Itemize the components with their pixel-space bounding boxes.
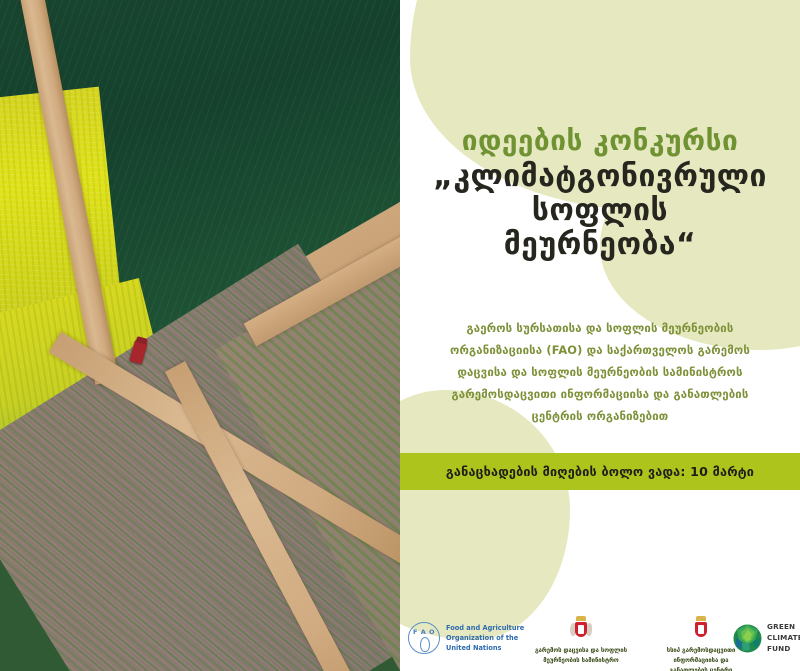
organizers-line: გარემოსდაცვითი ინფორმაციისა და განათლები… — [414, 384, 786, 406]
crest-shield — [575, 622, 587, 637]
content-panel: იდეების კონკურსი „კლიმატგონივრული სოფლის… — [400, 0, 800, 671]
logo-fao: Food and Agriculture Organization of the… — [408, 622, 524, 654]
organizers-line: გაეროს სურსათისა და სოფლის მეურნეობის — [414, 318, 786, 340]
aerial-farm-photo — [0, 0, 400, 671]
panel-content: იდეების კონკურსი „კლიმატგონივრული სოფლის… — [400, 0, 800, 671]
env-text-line: ინფორმაციისა და — [667, 656, 736, 666]
fao-text-line: United Nations — [446, 643, 524, 653]
organizers-line: დაცვისა და სოფლის მეურნეობის სამინისტროს — [414, 362, 786, 384]
fao-text-line: Organization of the — [446, 633, 524, 643]
title-line-2: „კლიმატგონივრული — [400, 160, 800, 194]
fao-logo-text: Food and Agriculture Organization of the… — [446, 623, 524, 654]
gcf-text-line: GREEN — [767, 622, 800, 633]
poster: იდეების კონკურსი „კლიმატგონივრული სოფლის… — [0, 0, 800, 671]
title-line-4: მეურნეობა“ — [400, 228, 800, 262]
ministry-text-line: მეურნეობის სამინისტრო — [535, 656, 627, 666]
title-line-1: იდეების კონკურსი — [400, 125, 800, 156]
gcf-text-line: CLIMATE — [767, 633, 800, 644]
logo-ministry: გარემოს დაცვისა და სოფლის მეურნეობის სამ… — [522, 616, 640, 666]
deadline-text: განაცხადების მიღების ბოლო ვადა: 10 მარტი — [446, 464, 754, 479]
footer-logo-strip: Food and Agriculture Organization of the… — [400, 612, 800, 671]
poster-title: იდეების კონკურსი „კლიმატგონივრული სოფლის… — [400, 125, 800, 261]
organizers-line: ორგანიზაციისა (FAO) და საქართველოს გარემ… — [414, 340, 786, 362]
organizers-line: ცენტრის ორგანიზებით — [414, 406, 786, 428]
gcf-logo-text: GREEN CLIMATE FUND — [767, 622, 800, 654]
crest-shield — [695, 622, 707, 637]
ministry-text-line: გარემოს დაცვისა და სოფლის — [535, 646, 627, 656]
photo-fields-layer — [0, 0, 400, 671]
georgia-coat-of-arms-icon — [570, 616, 592, 643]
deadline-banner: განაცხადების მიღების ბოლო ვადა: 10 მარტი — [400, 453, 800, 490]
georgia-coat-of-arms-icon — [690, 616, 712, 643]
crest-crown — [576, 616, 586, 621]
ministry-logo-text: გარემოს დაცვისა და სოფლის მეურნეობის სამ… — [535, 646, 627, 666]
gcf-text-line: FUND — [767, 644, 800, 655]
crest-crown — [696, 616, 706, 621]
green-globe-icon — [733, 624, 762, 653]
fao-text-line: Food and Agriculture — [446, 623, 524, 633]
env-center-logo-text: სსიპ გარემოსდაცვითი ინფორმაციისა და განა… — [667, 646, 736, 671]
organizers-paragraph: გაეროს სურსათისა და სოფლის მეურნეობის ორ… — [414, 318, 786, 427]
env-text-line: განათლების ცენტრი — [667, 666, 736, 671]
fao-emblem-icon — [408, 622, 440, 654]
title-line-3: სოფლის — [400, 194, 800, 228]
logo-green-climate-fund: GREEN CLIMATE FUND — [733, 622, 800, 654]
photo-grain-overlay — [0, 0, 400, 671]
env-text-line: სსიპ გარემოსდაცვითი — [667, 646, 736, 656]
